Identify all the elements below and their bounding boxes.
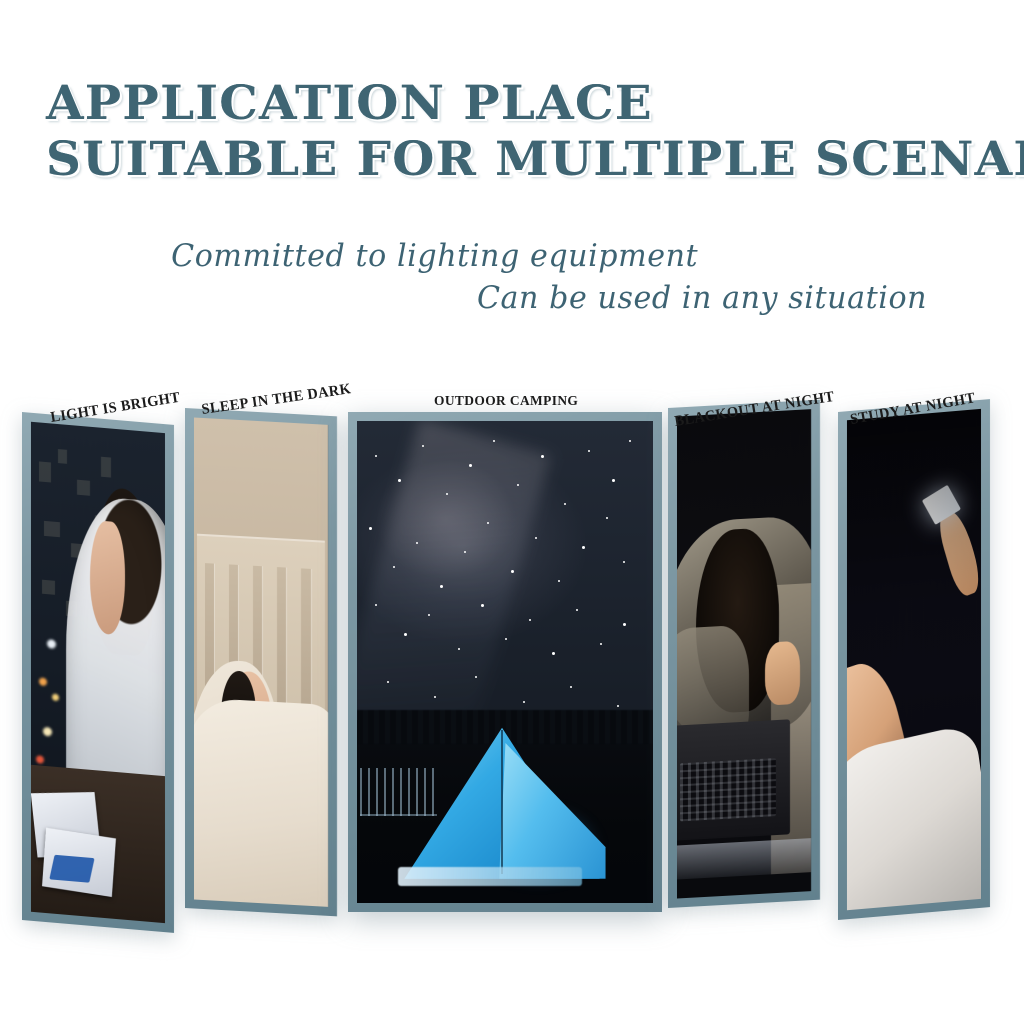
panel-label-outdoor-camping: OUTDOOR CAMPING — [434, 394, 578, 410]
scenario-panel-sleep-in-the-dark[interactable] — [185, 408, 337, 916]
scenario-photo-study-at-night — [847, 409, 981, 910]
vignette-shadow — [847, 409, 981, 910]
scene-office-night — [31, 422, 165, 923]
scenario-panel-outdoor-camping[interactable] — [348, 412, 662, 912]
scenario-photo-blackout-at-night — [677, 409, 811, 898]
scene-study-night — [847, 409, 981, 910]
scenario-panel-blackout-at-night[interactable] — [668, 400, 820, 908]
scenario-photo-sleep-in-the-dark — [194, 417, 328, 906]
page-title-line2: SUITABLE FOR MULTIPLE SCENARIOS — [46, 134, 1024, 186]
scenario-panel-study-at-night[interactable] — [838, 399, 990, 920]
promo-graphic: APPLICATION PLACE SUITABLE FOR MULTIPLE … — [0, 0, 1024, 1024]
page-title-line2-text: SUITABLE FOR MULTIPLE SCENARIOS — [46, 132, 1024, 187]
scenario-photo-outdoor-camping — [357, 421, 653, 903]
scene-camping-night — [357, 421, 653, 903]
scene-blackout-desk — [677, 409, 811, 898]
face-shape — [90, 520, 125, 636]
hand-shape — [765, 641, 800, 706]
scenario-panel-light-is-bright[interactable] — [22, 412, 174, 933]
subtitle-line1: Committed to lighting equipment — [171, 238, 698, 274]
subheading-block: Committed to lighting equipment Can be u… — [0, 0, 1024, 120]
scenario-photo-light-is-bright — [31, 422, 165, 923]
scenario-panel-group — [0, 360, 1024, 960]
tent-seam — [501, 730, 503, 875]
tent-base — [398, 867, 582, 886]
bedding — [194, 697, 328, 907]
scene-bedroom — [194, 417, 328, 906]
document-chart-icon — [50, 855, 95, 882]
laptop-keyboard — [680, 758, 776, 821]
subtitle-line2: Can be used in any situation — [477, 280, 927, 316]
fence-railing — [360, 768, 437, 816]
